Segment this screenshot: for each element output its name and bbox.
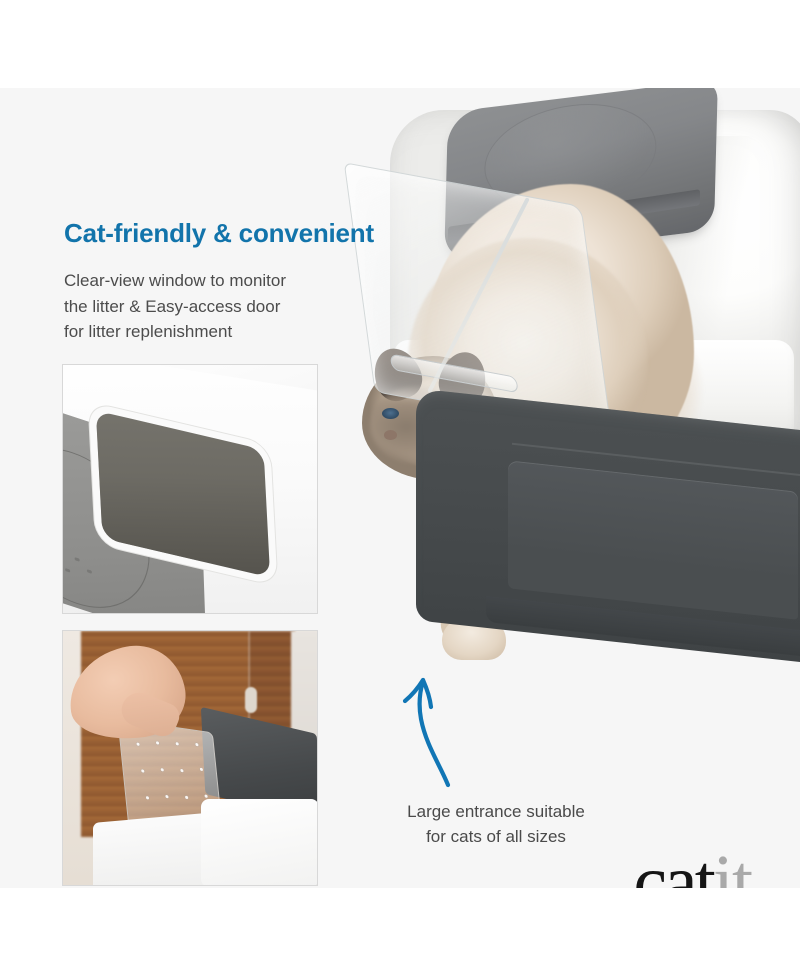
- content-panel: Cat-friendly & convenient Clear-view win…: [0, 88, 800, 888]
- curved-up-arrow-icon: [396, 673, 466, 788]
- flap-handle: [390, 353, 519, 393]
- curved-up-arrow: [396, 673, 466, 788]
- product-marketing-image: Cat-friendly & convenient Clear-view win…: [0, 0, 800, 977]
- caption-line-2: for cats of all sizes: [336, 825, 656, 850]
- logo-cat-text: cat: [633, 848, 713, 888]
- cat-eye-left: [382, 408, 399, 419]
- entrance-caption: Large entrance suitable for cats of all …: [336, 800, 656, 849]
- subcopy-line-2: the litter & Easy-access door: [64, 294, 374, 320]
- product-photo: [330, 88, 800, 708]
- clear-view-window-photo: [62, 364, 318, 614]
- litter-box-base: [416, 388, 800, 663]
- cat-nose: [384, 430, 397, 440]
- subcopy: Clear-view window to monitor the litter …: [64, 268, 374, 345]
- cabinet-knob: [245, 687, 257, 713]
- litter-box-front: [201, 799, 318, 886]
- base-drawer-panel: [508, 460, 798, 620]
- easy-access-door-photo: [62, 630, 318, 886]
- subcopy-line-1: Clear-view window to monitor: [64, 268, 374, 294]
- caption-line-1: Large entrance suitable: [336, 800, 656, 825]
- subcopy-line-3: for litter replenishment: [64, 319, 374, 345]
- catit-logo: cat it ®: [633, 848, 762, 888]
- logo-it-text: it: [713, 848, 751, 888]
- headline: Cat-friendly & convenient: [64, 219, 464, 249]
